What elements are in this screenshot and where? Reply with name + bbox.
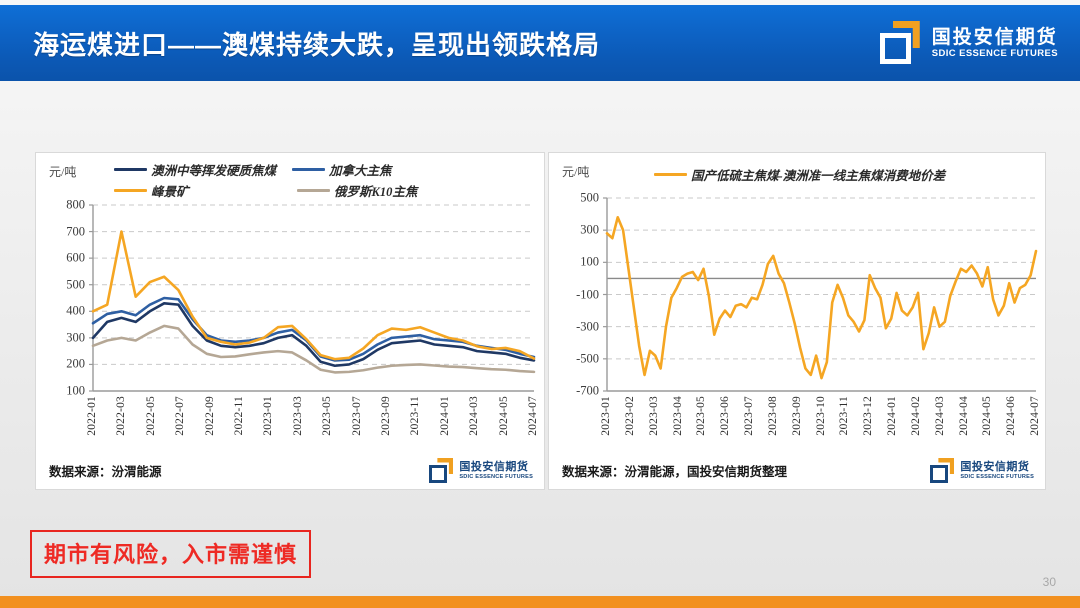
risk-warning-box: 期市有风险，入市需谨慎 <box>30 530 311 578</box>
logo-mark-icon <box>879 21 923 65</box>
x-axis-tick-label: 2022-05 <box>145 396 157 436</box>
left-card-logo: 国投安信期货 SDIC ESSENCE FUTURES <box>429 458 533 483</box>
x-axis-tick-label: 2024-01 <box>886 396 898 436</box>
logo-name-cn: 国投安信期货 <box>932 27 1058 48</box>
y-axis-tick-label: 100 <box>549 255 599 270</box>
x-axis-tick-label: 2024-06 <box>1005 396 1017 436</box>
bottom-accent-bar <box>0 596 1080 608</box>
x-axis-tick-label: 2023-08 <box>767 396 779 436</box>
left-chart-source: 数据来源：汾渭能源 <box>49 461 162 480</box>
x-axis-tick-label: 2023-05 <box>695 396 707 436</box>
y-axis-tick-label: -500 <box>549 351 599 366</box>
right-plot-area: 500300100-100-300-500-7002023-012023-022… <box>549 153 1047 491</box>
logo-mark-icon <box>429 458 454 483</box>
y-axis-tick-label: 500 <box>36 277 85 292</box>
x-axis-tick-label: 2024-03 <box>934 396 946 436</box>
page-header: 海运煤进口——澳煤持续大跌，呈现出领跌格局 国投安信期货 SDIC ESSENC… <box>0 5 1080 81</box>
x-axis-tick-label: 2022-03 <box>115 396 127 436</box>
x-axis-tick-label: 2024-01 <box>439 396 451 436</box>
x-axis-tick-label: 2024-07 <box>527 396 539 436</box>
x-axis-tick-label: 2023-03 <box>648 396 660 436</box>
logo-name-cn: 国投安信期货 <box>459 461 533 473</box>
y-axis-tick-label: 100 <box>36 384 85 399</box>
x-axis-tick-label: 2024-03 <box>468 396 480 436</box>
x-axis-tick-label: 2023-09 <box>380 396 392 436</box>
x-axis-tick-label: 2023-01 <box>262 396 274 436</box>
y-axis-tick-label: 200 <box>36 357 85 372</box>
x-axis-tick-label: 2024-04 <box>958 396 970 436</box>
y-axis-tick-label: 300 <box>36 330 85 345</box>
logo-mark-icon <box>930 458 955 483</box>
y-axis-tick-label: -700 <box>549 384 599 399</box>
logo-name-en: SDIC ESSENCE FUTURES <box>960 473 1034 481</box>
right-card-logo: 国投安信期货 SDIC ESSENCE FUTURES <box>930 458 1034 483</box>
y-axis-tick-label: 500 <box>549 191 599 206</box>
y-axis-tick-label: -300 <box>549 319 599 334</box>
x-axis-tick-label: 2022-01 <box>86 396 98 436</box>
x-axis-tick-label: 2023-07 <box>351 396 363 436</box>
x-axis-tick-label: 2023-12 <box>862 396 874 436</box>
logo-name-cn: 国投安信期货 <box>960 461 1034 473</box>
left-plot-area: 8007006005004003002001002022-012022-0320… <box>36 153 546 491</box>
x-axis-tick-label: 2023-10 <box>815 396 827 436</box>
brand-logo: 国投安信期货 SDIC ESSENCE FUTURES <box>879 16 1058 70</box>
logo-name-en: SDIC ESSENCE FUTURES <box>932 48 1058 60</box>
page-number: 30 <box>1043 575 1056 589</box>
x-axis-tick-label: 2022-09 <box>204 396 216 436</box>
right-chart-source: 数据来源：汾渭能源，国投安信期货整理 <box>562 461 787 480</box>
x-axis-tick-label: 2024-05 <box>498 396 510 436</box>
x-axis-tick-label: 2023-09 <box>791 396 803 436</box>
x-axis-tick-label: 2023-02 <box>624 396 636 436</box>
y-axis-tick-label: 800 <box>36 198 85 213</box>
x-axis-tick-label: 2023-01 <box>600 396 612 436</box>
x-axis-tick-label: 2023-03 <box>292 396 304 436</box>
x-axis-tick-label: 2024-07 <box>1029 396 1041 436</box>
left-chart-card: 元/吨 澳洲中等挥发硬质焦煤 加拿大主焦 峰景矿 俄罗斯K10主焦 800700… <box>35 152 545 490</box>
x-axis-tick-label: 2023-05 <box>321 396 333 436</box>
x-axis-tick-label: 2024-05 <box>981 396 993 436</box>
x-axis-tick-label: 2022-11 <box>233 396 245 435</box>
right-chart-card: 元/吨 国产低硫主焦煤-澳洲准一线主焦煤消费地价差 500300100-100-… <box>548 152 1046 490</box>
x-axis-tick-label: 2024-02 <box>910 396 922 436</box>
x-axis-tick-label: 2023-11 <box>838 396 850 435</box>
x-axis-tick-label: 2022-07 <box>174 396 186 436</box>
y-axis-tick-label: 400 <box>36 304 85 319</box>
page-title: 海运煤进口——澳煤持续大跌，呈现出领跌格局 <box>33 25 600 62</box>
y-axis-tick-label: 700 <box>36 224 85 239</box>
y-axis-tick-label: 300 <box>549 223 599 238</box>
x-axis-tick-label: 2023-06 <box>719 396 731 436</box>
x-axis-tick-label: 2023-04 <box>672 396 684 436</box>
y-axis-tick-label: 600 <box>36 251 85 266</box>
x-axis-tick-label: 2023-07 <box>743 396 755 436</box>
x-axis-tick-label: 2023-11 <box>409 396 421 435</box>
logo-name-en: SDIC ESSENCE FUTURES <box>459 473 533 481</box>
y-axis-tick-label: -100 <box>549 287 599 302</box>
